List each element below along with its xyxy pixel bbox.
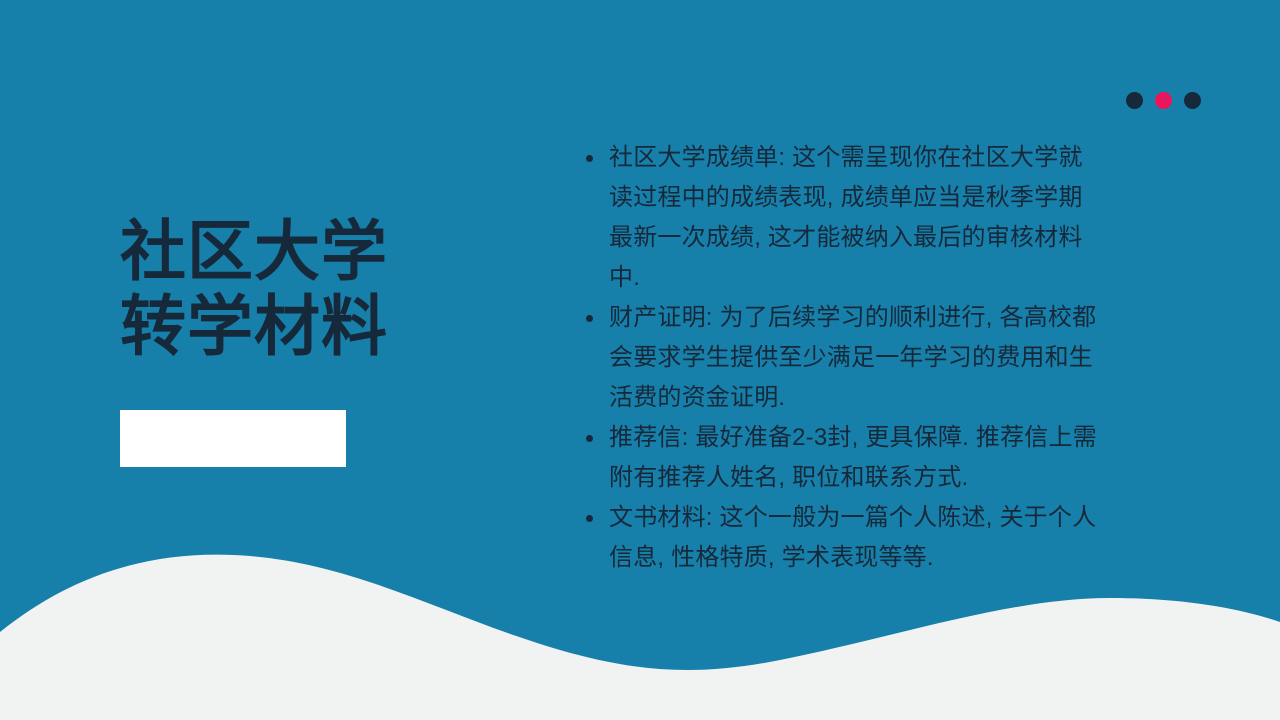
dot-middle-icon xyxy=(1155,92,1172,109)
list-item: 文书材料: 这个一般为一篇个人陈述, 关于个人信息, 性格特质, 学术表现等等. xyxy=(583,498,1103,578)
title-underline-bar xyxy=(120,410,346,467)
list-item: 财产证明: 为了后续学习的顺利进行, 各高校都会要求学生提供至少满足一年学习的费… xyxy=(583,298,1103,418)
title-block: 社区大学 转学材料 xyxy=(120,214,540,364)
bullet-list: 社区大学成绩单: 这个需呈现你在社区大学就读过程中的成绩表现, 成绩单应当是秋季… xyxy=(583,138,1103,578)
list-item: 社区大学成绩单: 这个需呈现你在社区大学就读过程中的成绩表现, 成绩单应当是秋季… xyxy=(583,138,1103,298)
dot-left-icon xyxy=(1126,92,1143,109)
presentation-slide: 社区大学 转学材料 社区大学成绩单: 这个需呈现你在社区大学就读过程中的成绩表现… xyxy=(0,0,1280,720)
list-item: 推荐信: 最好准备2-3封, 更具保障. 推荐信上需附有推荐人姓名, 职位和联系… xyxy=(583,418,1103,498)
page-title: 社区大学 转学材料 xyxy=(120,214,540,364)
dot-decoration-group xyxy=(1126,92,1201,109)
dot-right-icon xyxy=(1184,92,1201,109)
